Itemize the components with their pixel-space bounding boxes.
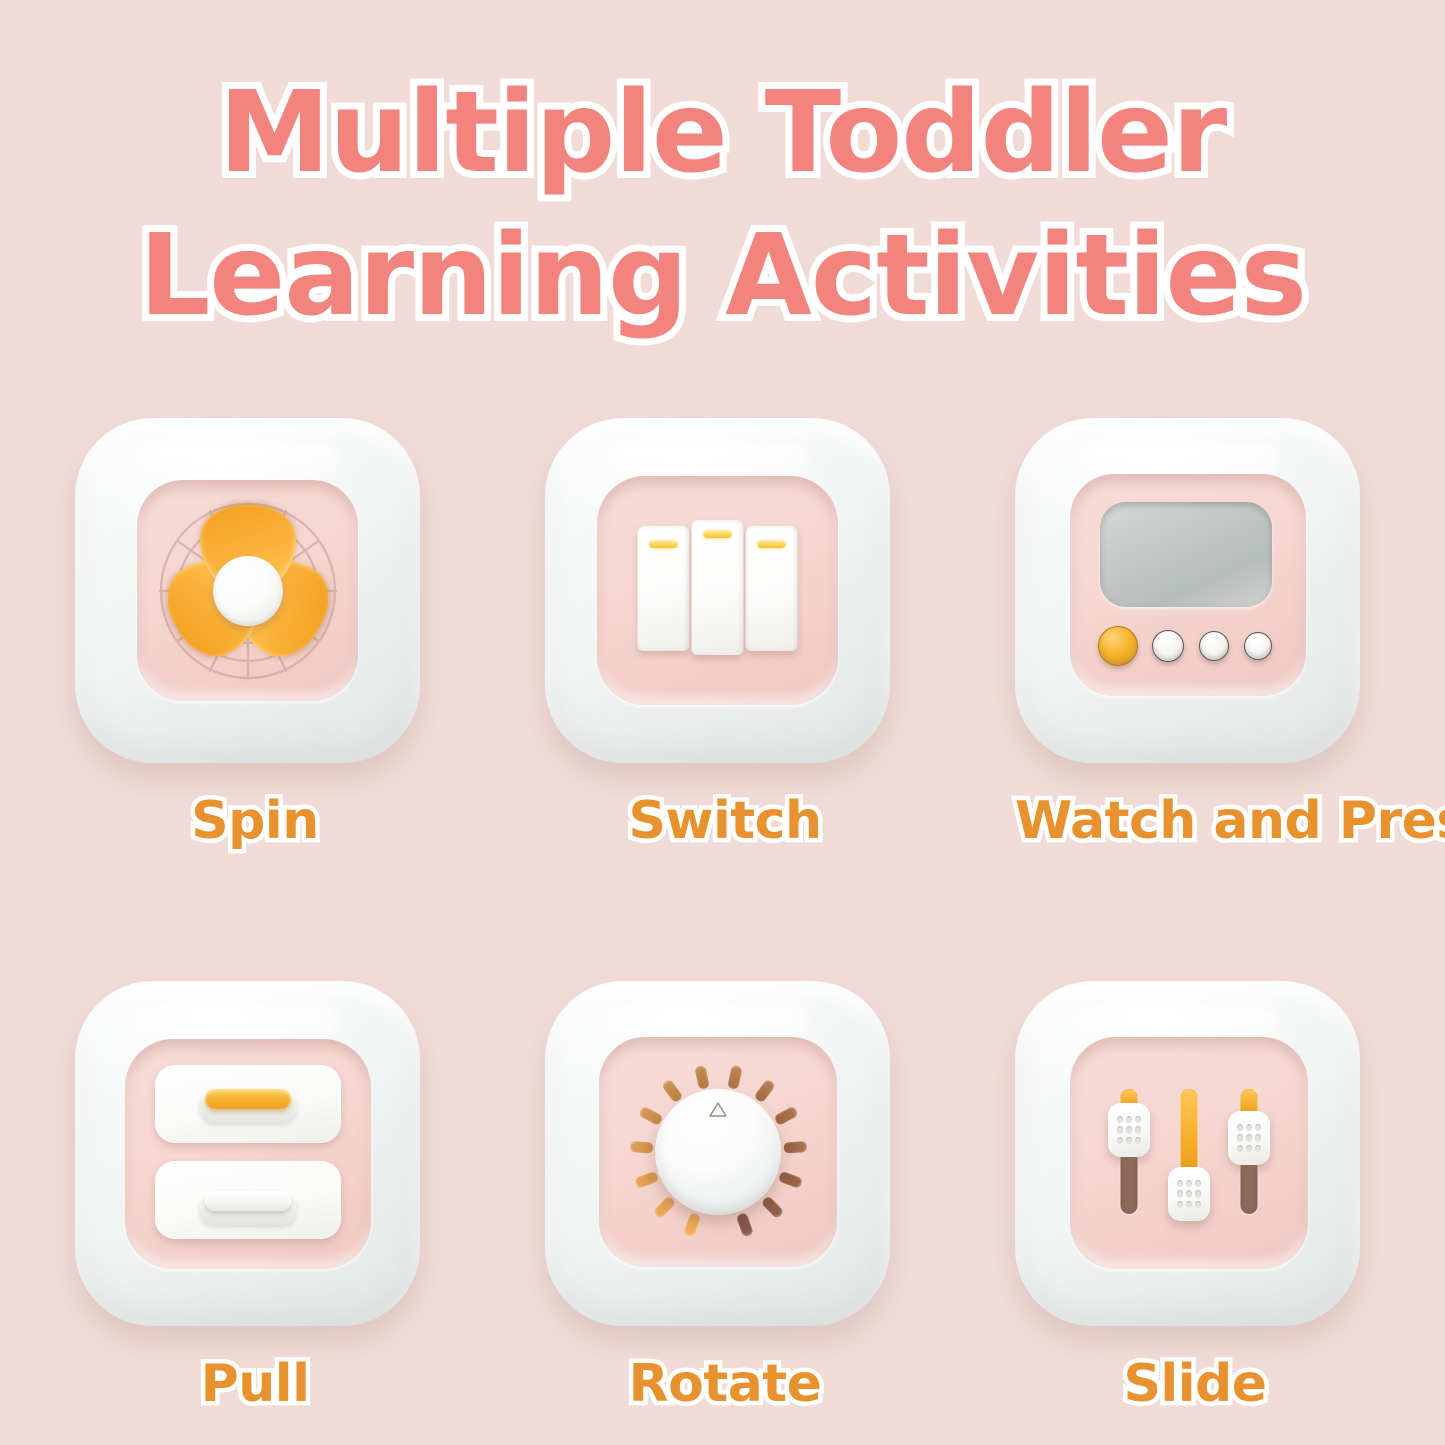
recess-panel-tv [1070, 474, 1306, 696]
knob-tick-mark [777, 1170, 802, 1188]
switch-led-indicator [758, 541, 786, 548]
rocker-switch-right[interactable] [746, 526, 798, 651]
recess-panel-rotate [599, 1037, 837, 1267]
tile-pull[interactable] [75, 981, 420, 1326]
slider-fill [1181, 1089, 1198, 1179]
knob-tick-mark [735, 1212, 753, 1237]
knob-tick-mark [783, 1141, 807, 1154]
drawer-handle-bottom[interactable] [205, 1191, 291, 1211]
recess-panel-switch [597, 476, 838, 705]
tv-screen-icon[interactable] [1070, 474, 1306, 696]
knob-tick-mark [760, 1195, 784, 1219]
knob-tick-mark [753, 1078, 776, 1103]
knob-tick-mark [773, 1105, 798, 1126]
activity-label-pull: Pull [75, 1354, 435, 1414]
knob-tick-mark [683, 1212, 701, 1237]
knob-tick-mark [629, 1141, 653, 1154]
tv-button-1[interactable] [1152, 630, 1184, 662]
tile-rotate[interactable] [545, 981, 890, 1326]
activity-label-slide: Slide [1015, 1354, 1375, 1414]
tile-switch[interactable] [545, 418, 890, 763]
rocker-switch-middle[interactable] [692, 520, 744, 655]
activity-card-switch[interactable]: Switch [545, 418, 905, 851]
tv-power-button[interactable] [1098, 626, 1138, 666]
activity-card-rotate[interactable]: Rotate [545, 981, 905, 1414]
tile-watch-and-press[interactable] [1015, 418, 1360, 763]
recess-panel-pull [125, 1039, 371, 1269]
fan-icon[interactable] [137, 480, 358, 701]
drawer-handle-top[interactable] [205, 1089, 291, 1109]
switch-led-indicator [650, 541, 678, 548]
knob-tick-mark [727, 1064, 743, 1089]
knob-tick-mark [694, 1064, 710, 1089]
knob-tick-mark [660, 1078, 683, 1103]
activity-card-watch-and-press[interactable]: Watch and Press [1015, 418, 1375, 851]
switch-led-indicator [704, 531, 732, 538]
slider-thumb[interactable] [1168, 1167, 1210, 1221]
knob-tick-mark [633, 1170, 658, 1188]
rocker-switch-icon[interactable] [635, 526, 800, 656]
activity-card-spin[interactable]: Spin [75, 418, 435, 851]
page-title: Multiple Toddler Learning Activities [0, 62, 1445, 349]
drawer-panel-bottom[interactable] [155, 1161, 341, 1239]
page-title-line-1: Multiple Toddler [0, 62, 1445, 205]
drawer-handle-icon[interactable] [155, 1065, 341, 1143]
activity-card-slide[interactable]: Slide [1015, 981, 1375, 1414]
recess-panel-slide [1070, 1037, 1308, 1269]
rocker-switch-left[interactable] [638, 526, 690, 651]
activity-card-pull[interactable]: Pull [75, 981, 435, 1414]
fan-hub [213, 556, 283, 626]
activity-label-spin: Spin [75, 791, 435, 851]
slider-thumb[interactable] [1228, 1111, 1270, 1165]
tv-button-row [1098, 624, 1278, 668]
tv-button-3[interactable] [1244, 632, 1272, 660]
slider-thumb[interactable] [1108, 1103, 1150, 1157]
tile-spin[interactable] [75, 418, 420, 763]
activity-grid: Spin Switch [75, 418, 1375, 1414]
recess-panel-spin [137, 480, 358, 701]
knob-tick-mark [638, 1105, 663, 1126]
activity-label-rotate: Rotate [545, 1354, 905, 1414]
knob-dial-icon[interactable] [655, 1089, 781, 1215]
page-title-line-2: Learning Activities [0, 205, 1445, 348]
activity-label-watch-and-press: Watch and Press [1015, 791, 1375, 851]
tile-slide[interactable] [1015, 981, 1360, 1326]
knob-pointer-icon [707, 1101, 729, 1119]
knob-tick-mark [652, 1195, 676, 1219]
tv-button-2[interactable] [1199, 631, 1229, 661]
tv-display-screen [1100, 502, 1272, 607]
activity-label-switch: Switch [545, 791, 905, 851]
